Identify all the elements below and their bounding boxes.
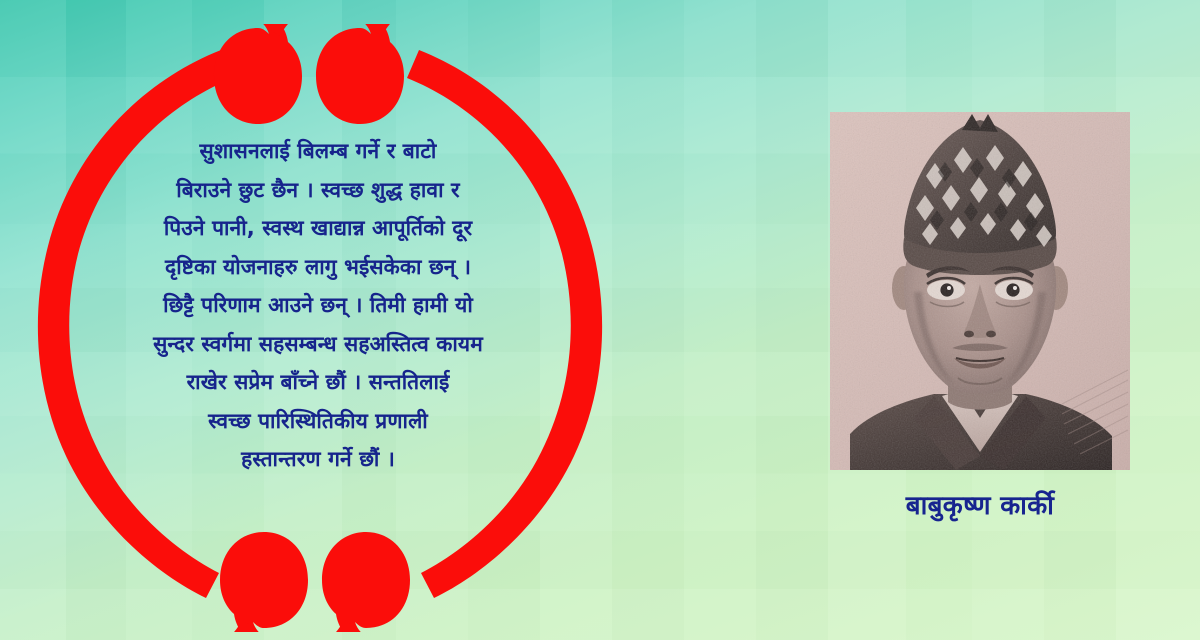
quote-line: बिराउने छुट छैन । स्वच्छ शुद्ध हावा र (78, 171, 558, 210)
attribution-name: बाबुकृष्ण कार्की (830, 486, 1130, 522)
portrait-photo-frame (830, 112, 1130, 470)
portrait-illustration (830, 112, 1130, 470)
opening-quotation-mark-icon (212, 24, 412, 144)
quote-poster: सुशासनलाई बिलम्ब गर्ने र बाटो बिराउने छु… (0, 0, 1200, 640)
quote-line: सुन्दर स्वर्गमा सहसम्बन्ध सहअस्तित्व काय… (78, 325, 558, 364)
quote-line: दृष्टिका योजनाहरु लागु भईसकेका छन् । (78, 248, 558, 287)
portrait-photo (830, 112, 1130, 470)
quote-line: स्वच्छ पारिस्थितिकीय प्रणाली (78, 402, 558, 441)
quote-line: सुशासनलाई बिलम्ब गर्ने र बाटो (78, 132, 558, 171)
closing-quotation-mark-icon (212, 512, 412, 632)
quote-line: राखेर सप्रेम बाँच्ने छौं । सन्ततिलाई (78, 363, 558, 402)
quote-line: हस्तान्तरण गर्ने छौं । (78, 440, 558, 479)
quote-line: पिउने पानी, स्वस्थ खाद्यान्न आपूर्तिको द… (78, 209, 558, 248)
quote-text-block: सुशासनलाई बिलम्ब गर्ने र बाटो बिराउने छु… (78, 132, 558, 479)
quote-line: छिट्टै परिणाम आउने छन् । तिमी हामी यो (78, 286, 558, 325)
